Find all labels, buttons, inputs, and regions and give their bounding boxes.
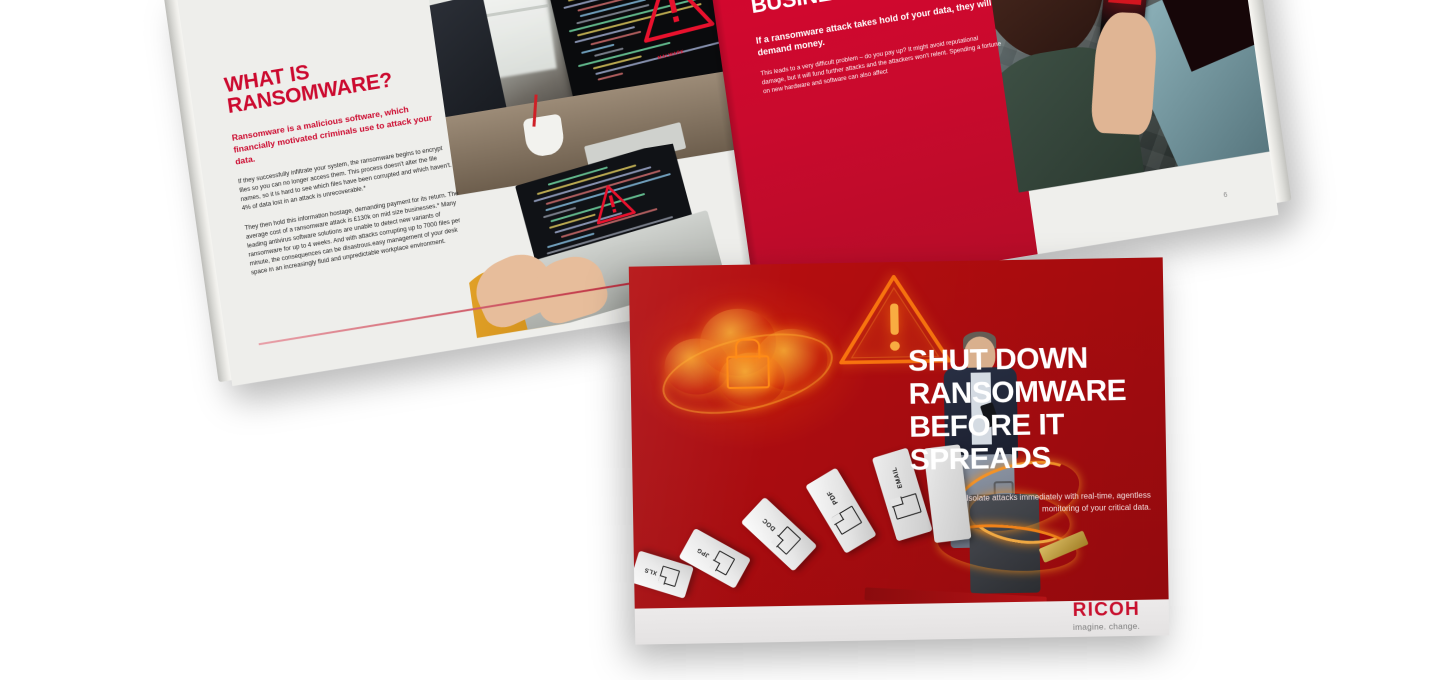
cover-title: SHUT DOWN RANSOMWARE BEFORE IT SPREADS [908, 341, 1156, 477]
cover-title-line-1: SHUT DOWN [908, 341, 1154, 378]
ricoh-wordmark: RICOH [1073, 600, 1141, 620]
cover-subtitle: Isolate attacks immediately with real-ti… [958, 490, 1151, 517]
left-page-text-column: WHAT IS RANSOMWARE? Ransomware is a mali… [223, 40, 466, 278]
cover-title-line-2: RANSOMWARE [908, 374, 1154, 411]
page-number: 6 [1223, 192, 1228, 200]
brochure-front-cover: XLS JPG DOC PDF EMAIL [629, 257, 1170, 644]
photo-woman-with-phone [971, 0, 1269, 193]
ricoh-logo: RICOH imagine. change. [1073, 600, 1141, 632]
screenshot-canvas: MALWARE [0, 0, 1440, 680]
cover-title-line-3: BEFORE IT SPREADS [909, 407, 1156, 477]
spread-right-page: HOW DOES AN ATTACK AFFECT YOUR BUSINESS?… [699, 0, 1278, 300]
ricoh-tagline: imagine. change. [1073, 621, 1140, 632]
